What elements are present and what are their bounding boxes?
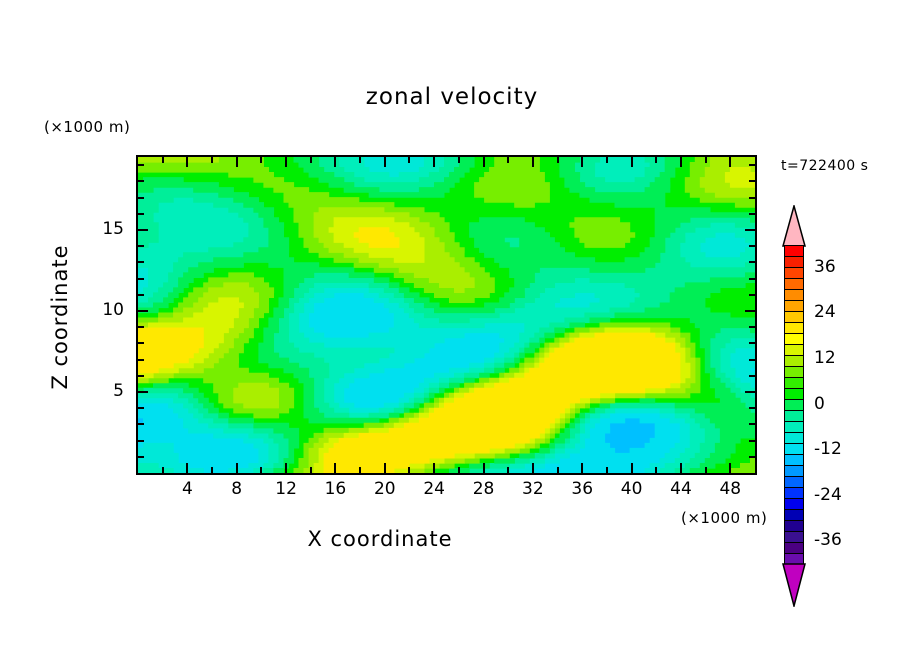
tick-mark: [310, 157, 312, 163]
tick-mark: [483, 157, 485, 167]
colorbar-band: [784, 498, 804, 509]
x-tick-label: 36: [562, 479, 602, 499]
colorbar-band: [784, 245, 804, 256]
colorbar-band: [784, 432, 804, 443]
tick-mark: [631, 463, 633, 473]
tick-mark: [749, 456, 755, 458]
colorbar-tick-label: 12: [814, 348, 836, 368]
tick-mark: [749, 164, 755, 166]
tick-mark: [729, 157, 731, 167]
colorbar-band: [784, 366, 804, 377]
y-tick-label: 15: [84, 219, 124, 239]
colorbar-band: [784, 300, 804, 311]
colorbar-tick-label: 24: [814, 302, 836, 322]
x-tick-label: 12: [266, 479, 306, 499]
tick-mark: [749, 407, 755, 409]
tick-mark: [138, 440, 144, 442]
colorbar-band: [784, 410, 804, 421]
tick-mark: [384, 157, 386, 167]
tick-mark: [334, 157, 336, 167]
x-tick-label: 44: [661, 479, 701, 499]
tick-mark: [162, 157, 164, 163]
colorbar-band: [784, 421, 804, 432]
tick-mark: [705, 467, 707, 473]
tick-mark: [680, 463, 682, 473]
x-tick-label: 20: [365, 479, 405, 499]
tick-mark: [334, 463, 336, 473]
tick-mark: [581, 463, 583, 473]
tick-mark: [749, 180, 755, 182]
tick-mark: [458, 467, 460, 473]
tick-mark: [532, 157, 534, 167]
x-tick-label: 40: [612, 479, 652, 499]
tick-mark: [211, 157, 213, 163]
colorbar-band: [784, 322, 804, 333]
colorbar-band: [784, 333, 804, 344]
tick-mark: [557, 467, 559, 473]
x-tick-label: 16: [315, 479, 355, 499]
tick-mark: [433, 157, 435, 167]
tick-mark: [749, 261, 755, 263]
colorbar-band: [784, 399, 804, 410]
tick-mark: [138, 326, 144, 328]
tick-mark: [236, 157, 238, 167]
y-tick-label: 10: [84, 300, 124, 320]
tick-mark: [138, 197, 144, 199]
tick-mark: [260, 157, 262, 163]
tick-mark: [606, 157, 608, 163]
colorbar-band: [784, 454, 804, 465]
tick-mark: [211, 467, 213, 473]
tick-mark: [507, 467, 509, 473]
tick-mark: [745, 229, 755, 231]
tick-mark: [138, 229, 148, 231]
y-tick-label: 5: [84, 381, 124, 401]
contour-plot-area: [136, 155, 757, 475]
tick-mark: [749, 359, 755, 361]
colorbar: 3624120-12-24-36: [778, 205, 818, 525]
tick-mark: [631, 157, 633, 167]
colorbar-band: [784, 355, 804, 366]
tick-mark: [138, 456, 144, 458]
tick-mark: [138, 261, 144, 263]
tick-mark: [749, 197, 755, 199]
tick-mark: [749, 326, 755, 328]
tick-mark: [655, 157, 657, 163]
tick-mark: [138, 375, 144, 377]
x-tick-label: 8: [217, 479, 257, 499]
tick-mark: [138, 407, 144, 409]
tick-mark: [138, 278, 144, 280]
x-axis-unit-label: (×1000 m): [681, 509, 767, 527]
tick-mark: [236, 463, 238, 473]
z-axis-unit-label: (×1000 m): [44, 118, 130, 136]
tick-mark: [138, 180, 144, 182]
colorbar-tick-label: -36: [814, 530, 842, 550]
tick-mark: [138, 342, 144, 344]
colorbar-over-arrow: [778, 205, 810, 247]
tick-mark: [138, 391, 148, 393]
colorbar-band: [784, 267, 804, 278]
tick-mark: [680, 157, 682, 167]
tick-mark: [433, 463, 435, 473]
colorbar-band: [784, 311, 804, 322]
tick-mark: [749, 278, 755, 280]
x-axis-title: X coordinate: [0, 527, 760, 551]
tick-mark: [138, 310, 148, 312]
tick-mark: [285, 157, 287, 167]
tick-mark: [745, 391, 755, 393]
colorbar-band: [784, 278, 804, 289]
tick-mark: [749, 375, 755, 377]
tick-mark: [749, 342, 755, 344]
colorbar-band: [784, 377, 804, 388]
colorbar-band: [784, 476, 804, 487]
tick-mark: [138, 359, 144, 361]
colorbar-tick-label: -12: [814, 439, 842, 459]
tick-mark: [260, 467, 262, 473]
tick-mark: [310, 467, 312, 473]
tick-mark: [186, 463, 188, 473]
tick-mark: [138, 423, 144, 425]
tick-mark: [408, 467, 410, 473]
colorbar-tick-label: 0: [814, 394, 825, 414]
colorbar-band: [784, 443, 804, 454]
x-tick-label: 48: [710, 479, 750, 499]
colorbar-band: [784, 520, 804, 531]
tick-mark: [138, 164, 144, 166]
colorbar-band: [784, 465, 804, 476]
colorbar-under-arrow: [778, 563, 810, 607]
tick-mark: [458, 157, 460, 163]
colorbar-band: [784, 256, 804, 267]
tick-mark: [581, 157, 583, 167]
colorbar-tick-label: 36: [814, 257, 836, 277]
colorbar-band: [784, 542, 804, 553]
tick-mark: [749, 440, 755, 442]
colorbar-band: [784, 509, 804, 520]
colorbar-band: [784, 487, 804, 498]
tick-mark: [285, 463, 287, 473]
tick-mark: [532, 463, 534, 473]
tick-mark: [408, 157, 410, 163]
tick-mark: [384, 463, 386, 473]
tick-mark: [655, 467, 657, 473]
tick-mark: [359, 157, 361, 163]
tick-mark: [705, 157, 707, 163]
page-title: zonal velocity: [0, 84, 904, 110]
tick-mark: [557, 157, 559, 163]
colorbar-band: [784, 289, 804, 300]
colorbar-band: [784, 388, 804, 399]
tick-mark: [749, 245, 755, 247]
x-tick-label: 4: [167, 479, 207, 499]
tick-mark: [186, 157, 188, 167]
colorbar-band: [784, 344, 804, 355]
tick-mark: [483, 463, 485, 473]
contour-field: [138, 157, 755, 473]
colorbar-band: [784, 531, 804, 542]
x-tick-label: 24: [414, 479, 454, 499]
tick-mark: [749, 294, 755, 296]
tick-mark: [749, 423, 755, 425]
tick-mark: [138, 294, 144, 296]
tick-mark: [138, 245, 144, 247]
y-axis-title: Z coordinate: [48, 217, 72, 417]
x-tick-label: 28: [464, 479, 504, 499]
tick-mark: [359, 467, 361, 473]
tick-mark: [606, 467, 608, 473]
tick-mark: [729, 463, 731, 473]
x-tick-label: 32: [513, 479, 553, 499]
tick-mark: [749, 213, 755, 215]
tick-mark: [138, 213, 144, 215]
tick-mark: [745, 310, 755, 312]
colorbar-tick-label: -24: [814, 485, 842, 505]
tick-mark: [507, 157, 509, 163]
time-annotation: t=722400 s: [781, 158, 868, 174]
tick-mark: [162, 467, 164, 473]
